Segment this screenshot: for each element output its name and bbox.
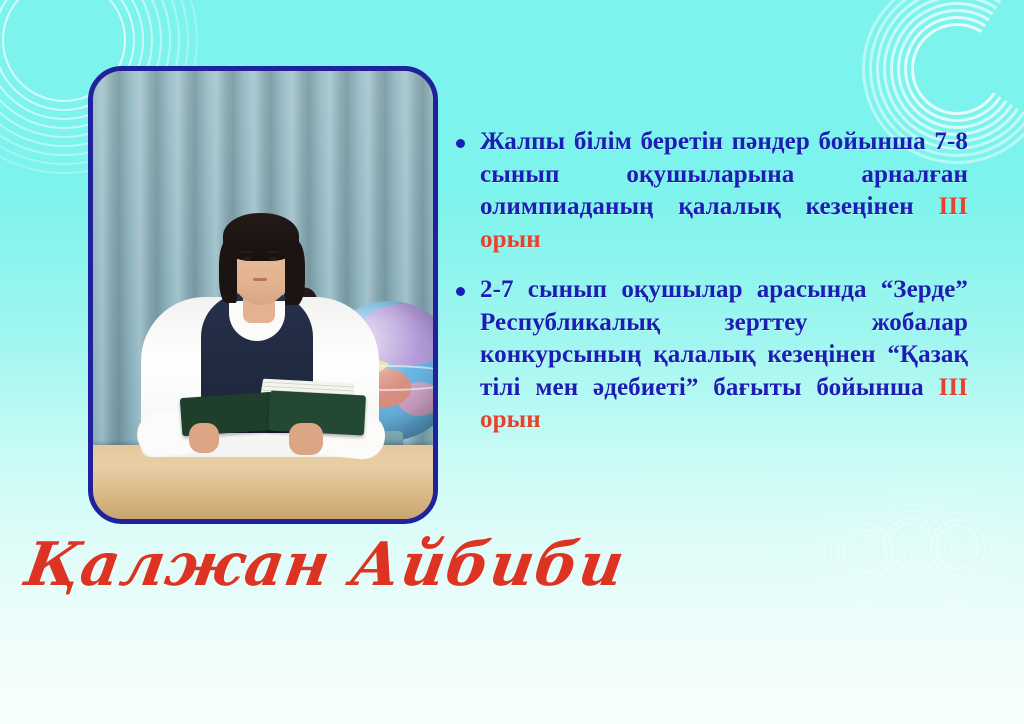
slide-canvas: Жалпы білім беретін пәндер бойынша 7-8 с… (0, 0, 1024, 724)
hand-right (289, 423, 323, 455)
achievement-item-2: 2-7 сынып оқушылар арасында “Зерде” Респ… (452, 274, 968, 437)
decorative-ring (889, 523, 933, 567)
decorative-ring (824, 510, 907, 593)
decorative-ring (894, 6, 1020, 132)
eyebrow-left (241, 251, 253, 253)
achievement-text-1: Жалпы білім беретін пәндер бойынша 7-8 с… (480, 128, 968, 220)
decorative-ring (909, 499, 1005, 595)
decorative-ring (811, 497, 920, 606)
decorative-ring (837, 523, 894, 580)
achievements-list: Жалпы білім беретін пәндер бойынша 7-8 с… (452, 126, 968, 455)
eyebrow-right (267, 251, 279, 253)
achievement-item-1: Жалпы білім беретін пәндер бойынша 7-8 с… (452, 126, 968, 256)
mouth (253, 278, 267, 281)
hair-right-side (285, 241, 305, 305)
eye-left (243, 257, 251, 261)
ring-clusters-bottom-right-icon (808, 488, 1008, 628)
decorative-ring (929, 519, 986, 576)
decorative-ring (922, 512, 992, 582)
student-name-signature: Қалжан Айбиби (20, 530, 629, 600)
hand-left (189, 423, 219, 453)
decorative-ring (883, 517, 940, 574)
student-photo-card (88, 66, 438, 524)
achievement-text-2: 2-7 сынып оқушылар арасында “Зерде” Респ… (480, 276, 968, 401)
eye-right (269, 257, 277, 261)
decorative-ring (843, 529, 887, 573)
decorative-ring (870, 504, 953, 587)
decorative-ring (902, 14, 1011, 123)
decorative-ring (817, 503, 913, 599)
decorative-ring (935, 525, 979, 569)
decorative-ring (916, 506, 999, 589)
decorative-ring (857, 491, 966, 600)
decorative-ring (830, 516, 900, 586)
hair-left-side (219, 241, 237, 303)
decorative-ring (903, 493, 1012, 602)
decorative-ring (863, 497, 959, 593)
decorative-ring (886, 0, 1024, 140)
decorative-ring (876, 510, 946, 580)
